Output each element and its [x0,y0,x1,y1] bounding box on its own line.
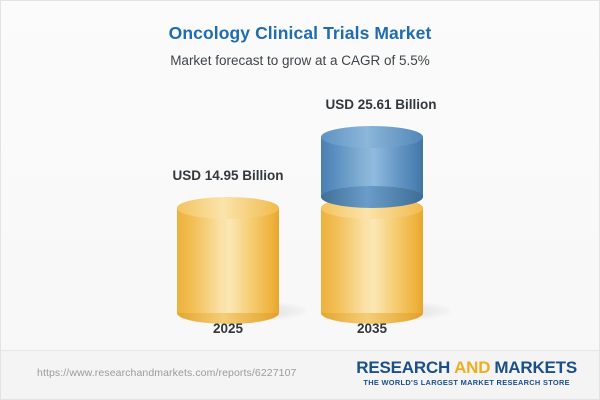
bar-2035-growth-bottom-ellipse [321,186,423,208]
logo-word-research: RESEARCH [356,358,450,377]
logo-word-and: AND [454,358,490,377]
bar-2035-growth-segment[interactable] [321,126,423,208]
value-label-2025: USD 14.95 Billion [128,168,328,183]
logo-tagline: THE WORLD'S LARGEST MARKET RESEARCH STOR… [356,378,577,387]
logo-wordmark: RESEARCHANDMARKETS [356,359,577,377]
footer: https://www.researchandmarkets.com/repor… [1,351,599,399]
report-url[interactable]: https://www.researchandmarkets.com/repor… [37,367,296,379]
category-label-2035: 2035 [322,321,422,336]
research-and-markets-logo[interactable]: RESEARCHANDMARKETS THE WORLD'S LARGEST M… [356,359,577,387]
category-label-2025: 2025 [178,321,278,336]
bar-2025-body [177,208,279,313]
infographic-card: Oncology Clinical Trials Market Market f… [0,0,600,400]
bar-2025[interactable] [177,197,279,313]
bar-2035-growth-top-ellipse [321,126,423,148]
logo-word-markets: MARKETS [494,358,577,377]
bar-chart: USD 14.95 Billion 2025 USD 25.61 Billion… [1,1,600,400]
bar-2025-top-ellipse [177,197,279,219]
bar-2035-base-segment[interactable] [321,197,423,313]
bar-2035-base-body [321,208,423,313]
value-label-2035: USD 25.61 Billion [281,97,481,112]
